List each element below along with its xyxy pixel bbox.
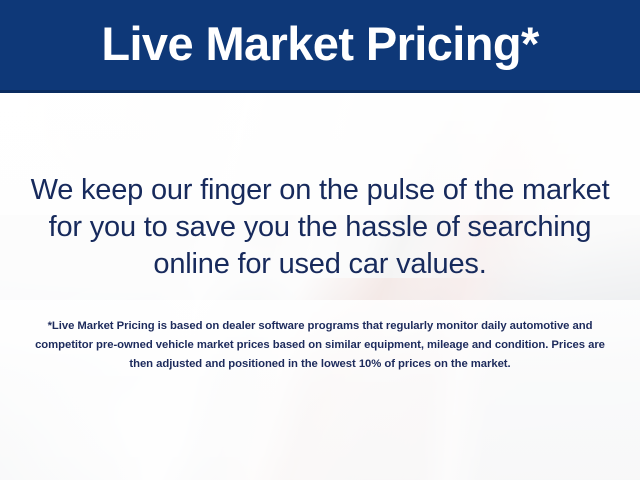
header-banner: Live Market Pricing* bbox=[0, 0, 640, 93]
slide-content: We keep our finger on the pulse of the m… bbox=[0, 93, 640, 480]
headline-text: We keep our finger on the pulse of the m… bbox=[24, 172, 616, 283]
marketing-slide: Live Market Pricing* We keep our finger … bbox=[0, 0, 640, 480]
disclaimer-text: *Live Market Pricing is based on dealer … bbox=[30, 317, 610, 374]
page-title: Live Market Pricing* bbox=[101, 20, 538, 71]
